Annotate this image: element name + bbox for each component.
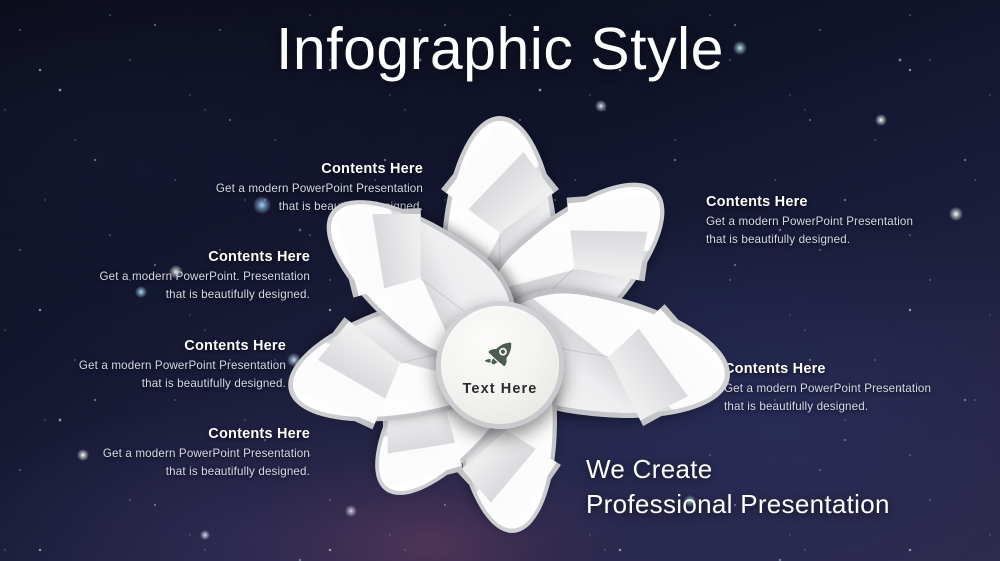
- center-hub[interactable]: Text Here: [436, 301, 564, 429]
- content-block-body-line-2: that is beautifully designed.: [46, 375, 286, 393]
- content-block-body: Get a modern PowerPoint Presentationthat…: [706, 213, 946, 249]
- center-hub-inner: Text Here: [441, 306, 559, 424]
- content-block-bottom-right: Contents HereGet a modern PowerPoint Pre…: [724, 361, 964, 416]
- content-block-body-line-1: Get a modern PowerPoint. Presentation: [70, 268, 310, 286]
- tagline-line-2: Professional Presentation: [586, 487, 890, 522]
- tagline: We Create Professional Presentation: [586, 452, 890, 521]
- content-block-mid-left: Contents HereGet a modern PowerPoint. Pr…: [70, 249, 310, 304]
- content-block-title: Contents Here: [724, 361, 964, 377]
- bright-star: [875, 114, 887, 126]
- content-block-title: Contents Here: [183, 161, 423, 177]
- rocket-icon: [480, 336, 520, 374]
- content-block-body-line-2: that is beautifully designed.: [724, 398, 964, 416]
- content-block-body: Get a modern PowerPoint Presentationthat…: [46, 357, 286, 393]
- content-block-body-line-1: Get a modern PowerPoint Presentation: [724, 380, 964, 398]
- content-block-top-right: Contents HereGet a modern PowerPoint Pre…: [706, 194, 946, 249]
- content-block-body: Get a modern PowerPoint Presentationthat…: [724, 380, 964, 416]
- content-block-body-line-1: Get a modern PowerPoint Presentation: [46, 357, 286, 375]
- content-block-lower-left: Contents HereGet a modern PowerPoint Pre…: [46, 338, 286, 393]
- content-block-body-line-1: Get a modern PowerPoint Presentation: [706, 213, 946, 231]
- content-block-title: Contents Here: [70, 249, 310, 265]
- content-block-title: Contents Here: [46, 338, 286, 354]
- content-block-bottom-left: Contents HereGet a modern PowerPoint Pre…: [70, 426, 310, 481]
- bright-star: [200, 530, 210, 540]
- content-block-body: Get a modern PowerPoint. Presentationtha…: [70, 268, 310, 304]
- content-block-body-line-2: that is beautifully designed.: [706, 231, 946, 249]
- content-block-body-line-1: Get a modern PowerPoint Presentation: [70, 445, 310, 463]
- infographic-slide: Infographic Style Contents HereGet a mod…: [0, 0, 1000, 561]
- center-hub-label: Text Here: [463, 381, 538, 397]
- page-title: Infographic Style: [0, 17, 1000, 82]
- bright-star: [949, 207, 963, 221]
- bright-star: [595, 100, 607, 112]
- tagline-line-1: We Create: [586, 452, 890, 487]
- content-block-body: Get a modern PowerPoint Presentationthat…: [70, 445, 310, 481]
- content-block-body-line-2: that is beautifully designed.: [70, 286, 310, 304]
- content-block-title: Contents Here: [706, 194, 946, 210]
- bright-star: [345, 505, 357, 517]
- content-block-title: Contents Here: [70, 426, 310, 442]
- content-block-body-line-2: that is beautifully designed.: [70, 463, 310, 481]
